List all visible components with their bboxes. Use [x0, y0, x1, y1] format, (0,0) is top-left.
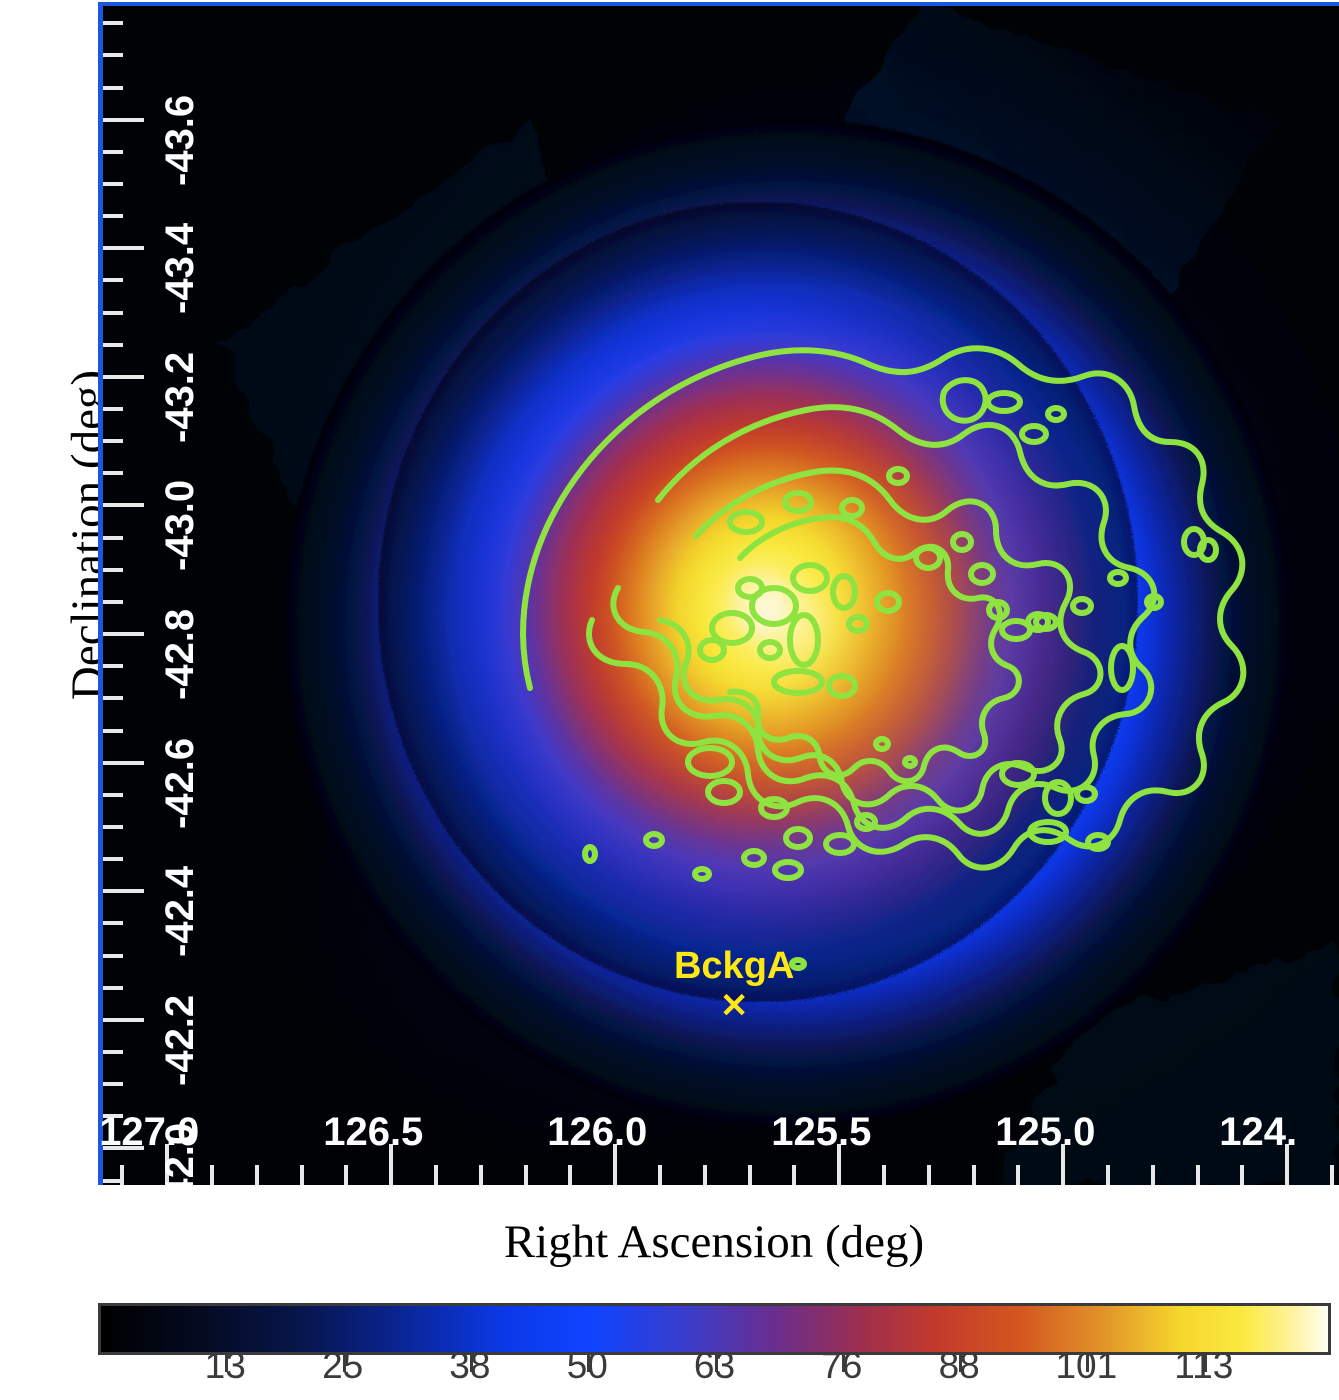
y-major-tick	[103, 632, 144, 636]
x-tick-label: 125.5	[771, 1110, 871, 1155]
y-minor-tick	[103, 182, 123, 186]
y-minor-tick	[103, 696, 123, 700]
y-tick-label: -43.2	[158, 352, 203, 443]
x-minor-tick	[300, 1165, 304, 1185]
y-minor-tick	[103, 664, 123, 668]
x-minor-tick	[748, 1165, 752, 1185]
colorbar-tick-label: 50	[567, 1345, 608, 1387]
y-minor-tick	[103, 150, 123, 154]
colorbar-tick-label: 13	[205, 1345, 246, 1387]
x-minor-tick	[120, 1165, 124, 1185]
y-minor-tick	[103, 825, 123, 829]
x-tick-label: 125.0	[995, 1110, 1095, 1155]
x-tick-label: 124.	[1219, 1110, 1297, 1155]
x-axis-title: Right Ascension (deg)	[98, 1213, 1330, 1271]
x-minor-tick	[1016, 1165, 1020, 1185]
x-minor-tick	[344, 1165, 348, 1185]
y-major-tick	[103, 889, 144, 893]
x-minor-tick	[1196, 1165, 1200, 1185]
y-minor-tick	[103, 214, 123, 218]
x-minor-tick	[972, 1165, 976, 1185]
y-minor-tick	[103, 793, 123, 797]
y-major-tick	[103, 761, 144, 765]
y-minor-tick	[103, 857, 123, 861]
x-minor-tick	[568, 1165, 572, 1185]
colorbar-tick-label: 88	[939, 1345, 980, 1387]
y-minor-tick	[103, 21, 123, 25]
x-tick-label: 126.5	[323, 1110, 423, 1155]
y-major-tick	[103, 375, 144, 379]
x-marker-icon: ✕	[720, 989, 749, 1023]
y-minor-tick	[103, 729, 123, 733]
image-axes: BckgA ✕ -42.0-42.2-42.4-42.6-42.8-43.0-4…	[98, 2, 1339, 1185]
x-minor-tick	[255, 1165, 259, 1185]
y-tick-label: -42.4	[158, 866, 203, 957]
x-minor-tick	[1106, 1165, 1110, 1185]
y-minor-tick	[103, 986, 123, 990]
x-minor-tick	[658, 1165, 662, 1185]
y-minor-tick	[103, 278, 123, 282]
top-axis-spine	[98, 2, 1339, 6]
y-minor-tick	[103, 568, 123, 572]
y-minor-tick	[103, 921, 123, 925]
y-minor-tick	[103, 439, 123, 443]
x-tick-label: 127.0	[99, 1110, 199, 1155]
colorbar-tick-label: 38	[449, 1345, 490, 1387]
y-minor-tick	[103, 311, 123, 315]
x-minor-tick	[927, 1165, 931, 1185]
x-minor-tick	[434, 1165, 438, 1185]
x-minor-tick	[479, 1165, 483, 1185]
y-major-tick	[103, 1018, 144, 1022]
x-minor-tick	[792, 1165, 796, 1185]
y-minor-tick	[103, 536, 123, 540]
x-minor-tick	[1240, 1165, 1244, 1185]
x-minor-tick	[882, 1165, 886, 1185]
colorbar-tick-label: 63	[694, 1345, 735, 1387]
y-minor-tick	[103, 1050, 123, 1054]
y-minor-tick	[103, 471, 123, 475]
sky-map-figure: Declination (deg)	[0, 0, 1339, 1400]
colorbar-tick-label: 25	[322, 1345, 363, 1387]
y-minor-tick	[103, 407, 123, 411]
x-minor-tick	[1151, 1165, 1155, 1185]
y-minor-tick	[103, 343, 123, 347]
y-major-tick	[103, 246, 144, 250]
y-minor-tick	[103, 600, 123, 604]
x-tick-label: 126.0	[547, 1110, 647, 1155]
y-minor-tick	[103, 1082, 123, 1086]
y-tick-label: -43.6	[158, 95, 203, 186]
y-major-tick	[103, 118, 144, 122]
y-minor-tick	[103, 954, 123, 958]
colorbar-tick-label: 113	[1174, 1345, 1233, 1387]
bckga-marker[interactable]: BckgA ✕	[664, 945, 804, 1035]
y-major-tick	[103, 503, 144, 507]
x-minor-tick	[210, 1165, 214, 1185]
y-minor-tick	[103, 86, 123, 90]
x-minor-tick	[703, 1165, 707, 1185]
colorbar-tick-label: 76	[821, 1345, 862, 1387]
y-tick-label: -42.8	[158, 609, 203, 700]
y-tick-label: -42.2	[158, 995, 203, 1086]
x-minor-tick	[524, 1165, 528, 1185]
left-axis-spine	[98, 2, 103, 1185]
x-minor-tick	[1330, 1165, 1334, 1185]
y-tick-label: -42.6	[158, 737, 203, 828]
colorbar-tick-label: 101	[1055, 1345, 1117, 1387]
y-minor-tick	[103, 53, 123, 57]
bckga-marker-label: BckgA	[674, 945, 794, 988]
y-tick-label: -43.4	[158, 223, 203, 314]
y-tick-label: -43.0	[158, 480, 203, 571]
